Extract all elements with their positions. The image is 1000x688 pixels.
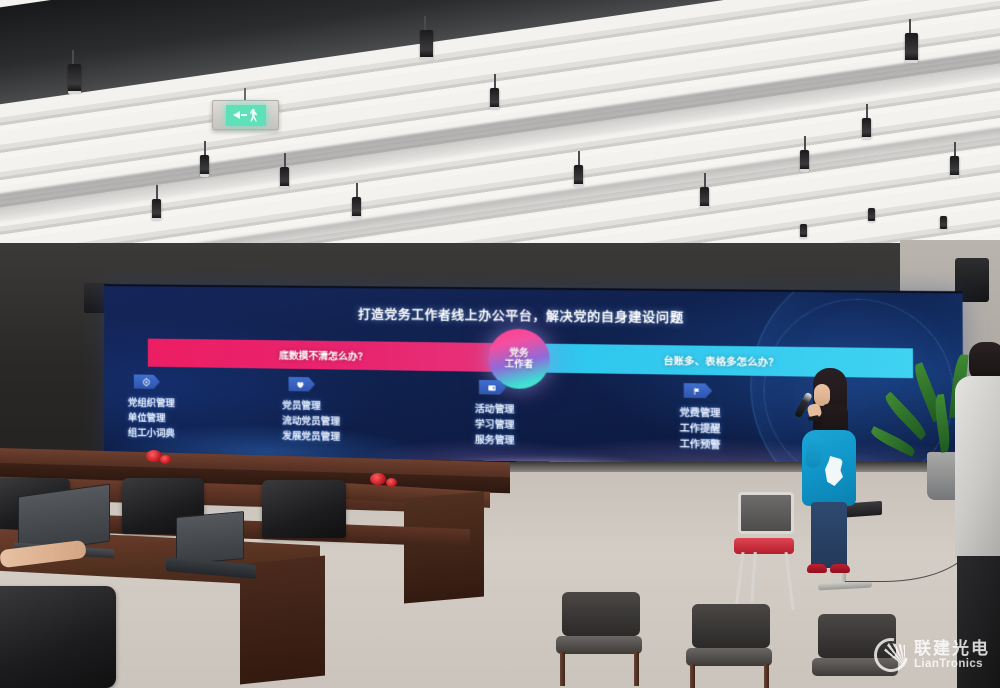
- track-light: [905, 33, 918, 61]
- running-person-icon: [249, 109, 258, 122]
- flower-decoration: [160, 455, 171, 464]
- track-light: [868, 208, 875, 221]
- presenter-shoe-left: [807, 564, 827, 573]
- heart-shield-icon: [288, 377, 315, 392]
- hub-line-2: 工作者: [505, 359, 534, 369]
- track-light: [420, 30, 433, 58]
- bystander-shirt: [955, 376, 1000, 558]
- slide-column-1-items: 党组织管理 单位管理 组工小词典: [130, 394, 284, 443]
- flower-decoration: [370, 473, 386, 485]
- emergency-exit-sign: [212, 100, 279, 130]
- bystander-person: [955, 348, 1000, 688]
- exit-arrow-icon: [233, 111, 240, 119]
- presenter: [795, 368, 863, 590]
- watermark: 联建光电 LianTronics: [874, 638, 990, 672]
- hub-line-1: 党务: [509, 348, 528, 358]
- track-light: [700, 187, 709, 207]
- leather-chair: [262, 480, 346, 538]
- watermark-en: LianTronics: [914, 659, 990, 671]
- list-item: 发展党员管理: [282, 428, 475, 448]
- list-item: 组工小词典: [128, 425, 284, 444]
- track-light: [200, 155, 209, 175]
- side-desk-pedestal: [404, 492, 484, 604]
- slide-column-3-items: 活动管理 学习管理 服务管理: [475, 400, 680, 451]
- track-light: [490, 88, 499, 108]
- track-light: [800, 224, 807, 237]
- track-light: [352, 197, 361, 217]
- screenshot-scene: 打造党务工作者线上办公平台，解决党的自身建设问题 底数摸不清怎么办？ 台账多、表…: [0, 0, 1000, 688]
- flower-decoration: [386, 478, 397, 487]
- flag-icon: [684, 383, 712, 398]
- watermark-cn: 联建光电: [914, 640, 990, 657]
- presenter-shoe-right: [830, 564, 850, 573]
- liantronics-logo-icon: [874, 638, 908, 672]
- slide-column-2-items: 党员管理 流动党员管理 发展党员管理: [284, 397, 475, 447]
- track-light: [800, 150, 809, 170]
- leather-chair-front: [0, 586, 116, 688]
- slide-band-left: 底数摸不清怎么办？: [148, 339, 504, 372]
- target-icon: [134, 374, 160, 388]
- list-item: 服务管理: [475, 432, 680, 452]
- track-light: [950, 156, 959, 176]
- track-light: [862, 118, 871, 138]
- wallet-icon: [479, 380, 507, 395]
- track-light: [68, 64, 81, 92]
- track-light: [152, 199, 161, 219]
- slide-column-2: 党员管理 流动党员管理 发展党员管理: [284, 377, 475, 469]
- track-light: [574, 165, 583, 185]
- track-light: [940, 216, 947, 229]
- presenter-jeans: [811, 502, 847, 568]
- slide-column-3: 活动管理 学习管理 服务管理: [475, 380, 680, 473]
- track-light: [280, 167, 289, 187]
